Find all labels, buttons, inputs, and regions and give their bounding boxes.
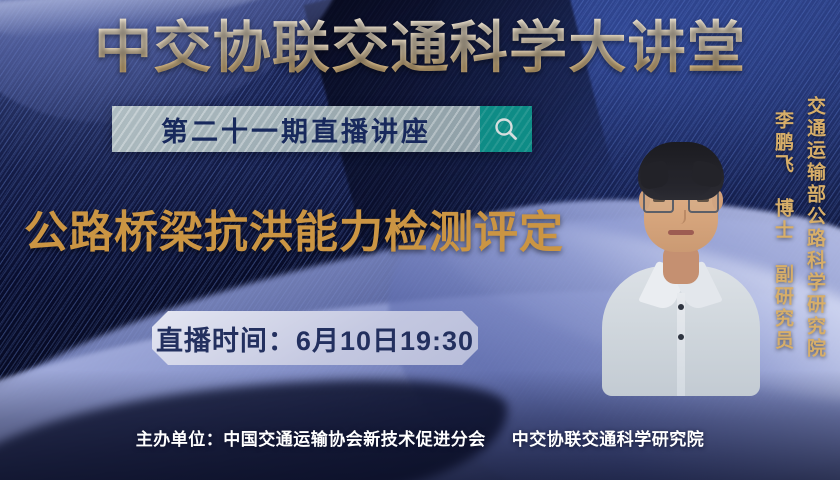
search-input[interactable]: 第二十一期直播讲座 <box>112 106 480 152</box>
organizer-primary: 主办单位：中国交通运输协会新技术促进分会 <box>136 430 486 449</box>
speaker-organization: 交通运输部公路科学研究院 <box>801 96 828 360</box>
organizer-footer: 主办单位：中国交通运输协会新技术促进分会中交协联交通科学研究院 <box>0 425 840 450</box>
organizer-secondary: 中交协联交通科学研究院 <box>512 430 705 449</box>
search-icon <box>492 115 520 143</box>
search-input-value: 第二十一期直播讲座 <box>161 110 431 149</box>
main-title: 中交协联交通科学大讲堂 <box>0 16 840 82</box>
speaker-portrait <box>600 118 762 393</box>
live-broadcast-poster: 中交协联交通科学大讲堂 第二十一期直播讲座 公路桥梁抗洪能力检测评定 直播时间：… <box>0 0 840 480</box>
portrait-nose <box>676 210 686 224</box>
broadcast-time-label: 直播时间：6月10日19:30 <box>156 319 474 358</box>
portrait-mouth <box>668 230 694 235</box>
portrait-shirt-button <box>678 334 684 340</box>
search-button[interactable] <box>480 106 532 152</box>
broadcast-time-badge: 直播时间：6月10日19:30 <box>152 311 478 365</box>
episode-search-bar[interactable]: 第二十一期直播讲座 <box>112 106 532 152</box>
lecture-topic: 公路桥梁抗洪能力检测评定 <box>24 205 564 261</box>
speaker-name-title: 李鹏飞 博士 副研究员 <box>769 110 796 352</box>
portrait-shirt-button <box>678 304 684 310</box>
